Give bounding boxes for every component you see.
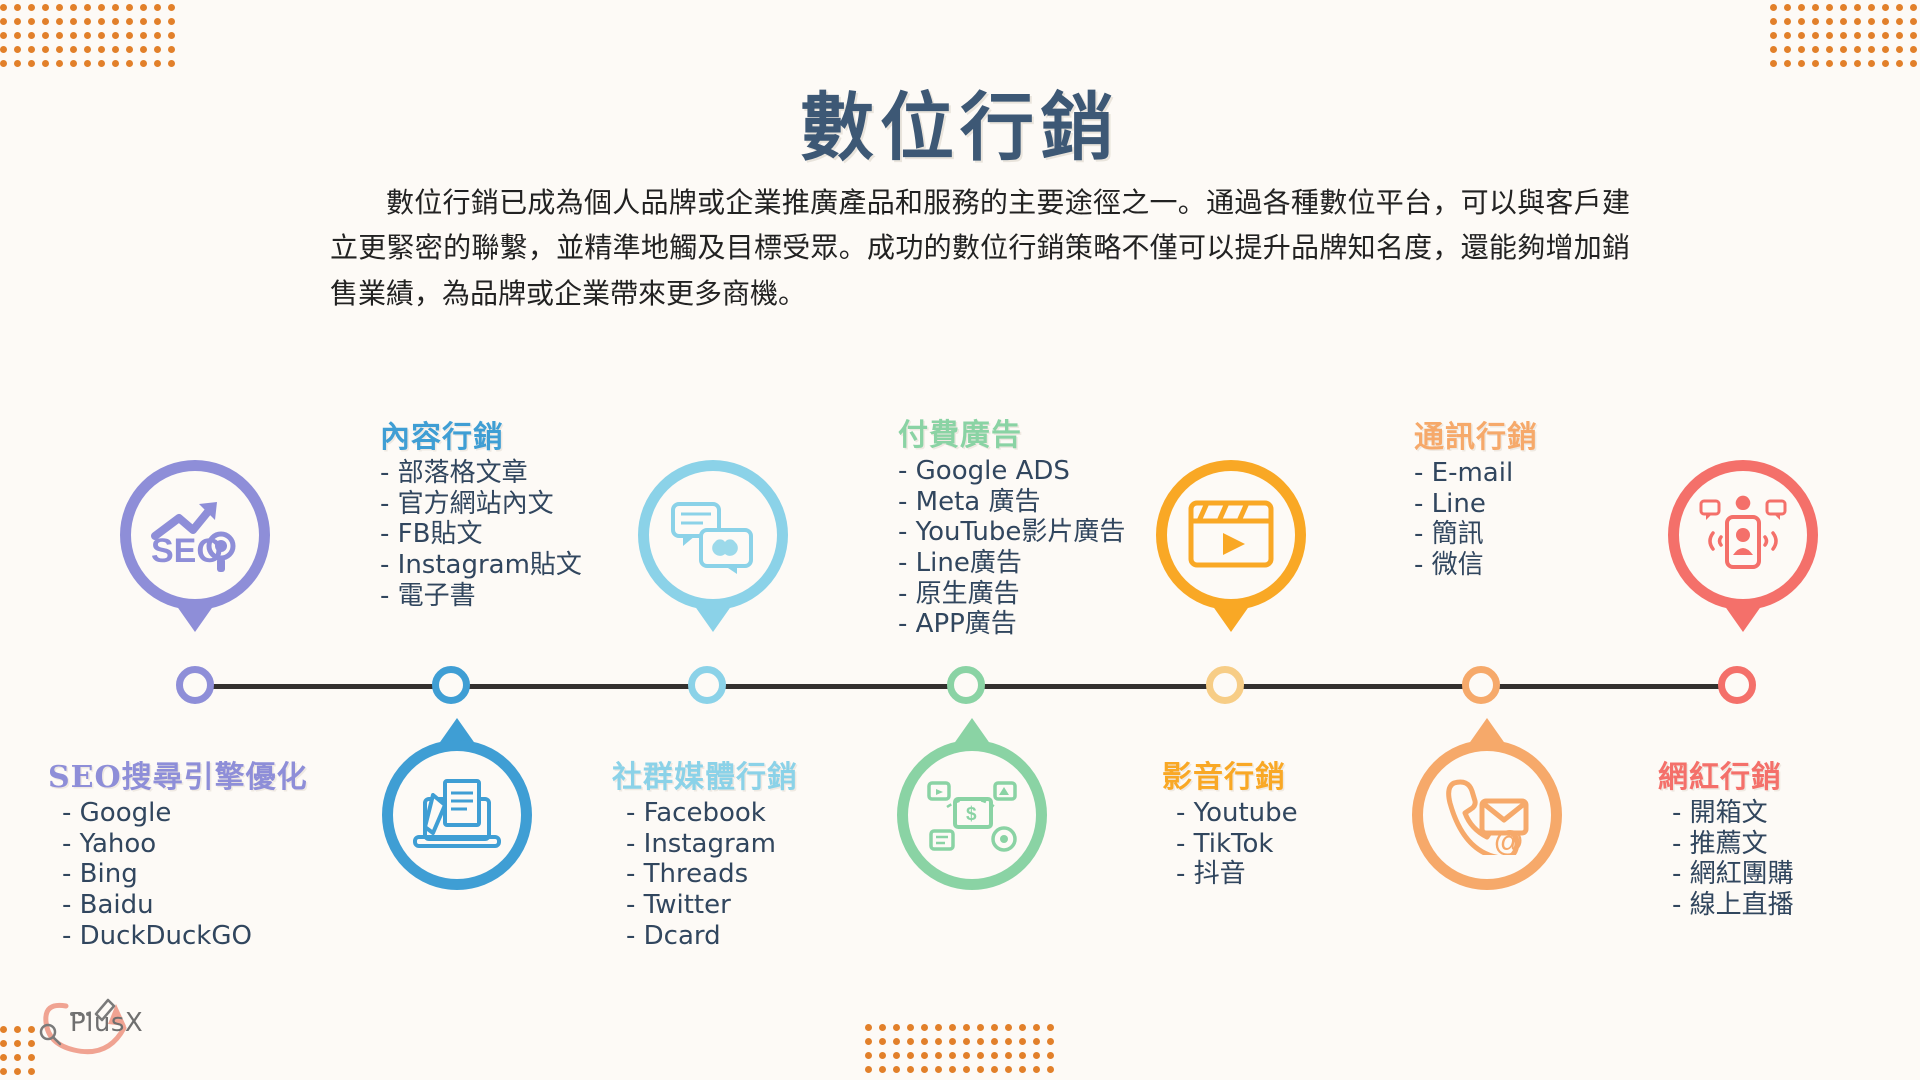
list-item: Baidu: [62, 890, 308, 921]
section-heading-video: 影音行銷: [1162, 752, 1298, 796]
pin-paid[interactable]: $: [897, 718, 1047, 890]
pin-content[interactable]: [382, 718, 532, 890]
chat-bubbles-heart-icon: [638, 460, 788, 610]
section-heading-paid: 付費廣告: [898, 410, 1125, 454]
page-title: 數位行銷: [0, 68, 1920, 175]
list-item: FB貼文: [380, 519, 582, 550]
list-item: Google ADS: [898, 456, 1125, 487]
video-clapper-play-icon: [1156, 460, 1306, 610]
list-item: YouTube影片廣告: [898, 517, 1125, 548]
phone-person-speech-icon: [1668, 460, 1818, 610]
section-block-content: 內容行銷 部落格文章 官方網站內文 FB貼文 Instagram貼文 電子書: [380, 412, 582, 611]
dot-pattern-bottom-center: [865, 1024, 1065, 1074]
section-block-messaging: 通訊行銷 E-mail Line 簡訊 微信: [1414, 412, 1538, 581]
section-heading-messaging: 通訊行銷: [1414, 412, 1538, 456]
list-item: E-mail: [1414, 458, 1538, 489]
section-block-influencer: 網紅行銷 開箱文 推薦文 網紅團購 線上直播: [1672, 752, 1794, 921]
section-block-paid: 付費廣告 Google ADS Meta 廣告 YouTube影片廣告 Line…: [898, 410, 1125, 640]
plusx-logo[interactable]: PlusX: [22, 988, 172, 1060]
list-item: Line廣告: [898, 548, 1125, 579]
list-item: Line: [1414, 489, 1538, 520]
timeline-node-content[interactable]: [432, 666, 470, 704]
section-list-paid: Google ADS Meta 廣告 YouTube影片廣告 Line廣告 原生…: [898, 456, 1125, 640]
list-item: Meta 廣告: [898, 487, 1125, 518]
list-item: 微信: [1414, 550, 1538, 581]
list-item: Google: [62, 798, 308, 829]
timeline-node-seo[interactable]: [176, 666, 214, 704]
section-heading-seo: SEO搜尋引擎優化: [48, 752, 308, 796]
ads-monitor-megaphone-icon: $: [897, 740, 1047, 890]
dot-pattern-top-left: [0, 4, 190, 74]
section-block-social: 社群媒體行銷 Facebook Instagram Threads Twitte…: [626, 752, 798, 951]
list-item: 電子書: [380, 581, 582, 612]
section-block-video: 影音行銷 Youtube TikTok 抖音: [1176, 752, 1298, 890]
section-block-seo: SEO搜尋引擎優化 Google Yahoo Bing Baidu DuckDu…: [62, 752, 308, 951]
section-list-content: 部落格文章 官方網站內文 FB貼文 Instagram貼文 電子書: [380, 458, 582, 611]
section-heading-influencer: 網紅行銷: [1658, 752, 1794, 796]
list-item: Instagram: [626, 829, 798, 860]
intro-paragraph: 數位行銷已成為個人品牌或企業推廣產品和服務的主要途徑之一。通過各種數位平台，可以…: [330, 180, 1630, 316]
list-item: 官方網站內文: [380, 489, 582, 520]
list-item: 開箱文: [1672, 798, 1794, 829]
list-item: Dcard: [626, 921, 798, 952]
list-item: 推薦文: [1672, 829, 1794, 860]
list-item: TikTok: [1176, 829, 1298, 860]
timeline-node-paid[interactable]: [947, 666, 985, 704]
timeline-node-video[interactable]: [1206, 666, 1244, 704]
pin-influencer[interactable]: [1668, 460, 1818, 632]
timeline-node-social[interactable]: [688, 666, 726, 704]
list-item: Instagram貼文: [380, 550, 582, 581]
pin-seo[interactable]: SEO: [120, 460, 270, 632]
section-list-social: Facebook Instagram Threads Twitter Dcard: [626, 798, 798, 951]
timeline-node-messaging[interactable]: [1462, 666, 1500, 704]
list-item: 部落格文章: [380, 458, 582, 489]
svg-text:@: @: [1494, 825, 1523, 855]
section-heading-social: 社群媒體行銷: [612, 752, 798, 796]
seo-chart-magnifier-icon: SEO: [120, 460, 270, 610]
infographic-canvas: 數位行銷 數位行銷已成為個人品牌或企業推廣產品和服務的主要途徑之一。通過各種數位…: [0, 0, 1920, 1080]
list-item: 線上直播: [1672, 890, 1794, 921]
list-item: Bing: [62, 859, 308, 890]
list-item: DuckDuckGO: [62, 921, 308, 952]
list-item: Threads: [626, 859, 798, 890]
pin-social[interactable]: [638, 460, 788, 632]
list-item: 簡訊: [1414, 519, 1538, 550]
list-item: Twitter: [626, 890, 798, 921]
dot-pattern-top-right: [1770, 4, 1920, 74]
list-item: Youtube: [1176, 798, 1298, 829]
timeline-node-influencer[interactable]: [1718, 666, 1756, 704]
list-item: Yahoo: [62, 829, 308, 860]
list-item: 原生廣告: [898, 579, 1125, 610]
laptop-document-pencil-icon: [382, 740, 532, 890]
plusx-logo-text: PlusX: [70, 1008, 143, 1038]
list-item: APP廣告: [898, 609, 1125, 640]
phone-envelope-at-icon: @: [1412, 740, 1562, 890]
svg-text:$: $: [966, 804, 977, 825]
pin-messaging[interactable]: @: [1412, 718, 1562, 890]
list-item: 網紅團購: [1672, 859, 1794, 890]
list-item: 抖音: [1176, 859, 1298, 890]
section-heading-content: 內容行銷: [380, 412, 582, 456]
list-item: Facebook: [626, 798, 798, 829]
section-list-influencer: 開箱文 推薦文 網紅團購 線上直播: [1672, 798, 1794, 921]
section-list-seo: Google Yahoo Bing Baidu DuckDuckGO: [62, 798, 308, 951]
section-list-messaging: E-mail Line 簡訊 微信: [1414, 458, 1538, 581]
pin-video[interactable]: [1156, 460, 1306, 632]
section-list-video: Youtube TikTok 抖音: [1176, 798, 1298, 890]
